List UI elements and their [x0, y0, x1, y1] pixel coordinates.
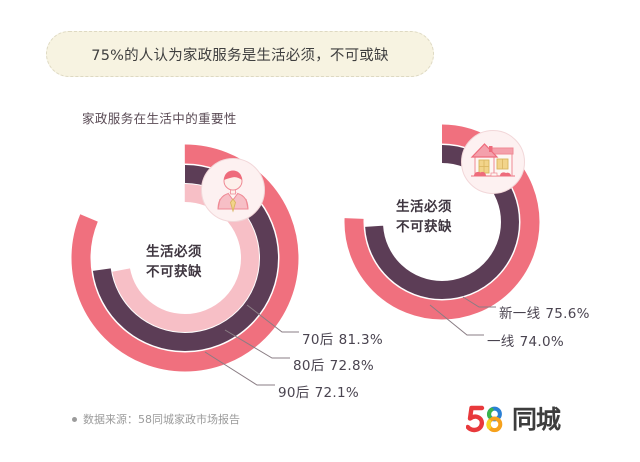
- right-donut-center-caption: 生活必须 不可获缺: [396, 198, 452, 237]
- data-label-70hou: 70后81.3%: [302, 328, 383, 348]
- data-label-yixian-name: 一线: [487, 334, 515, 350]
- data-label-xinyixian: 新一线75.6%: [499, 302, 590, 322]
- data-label-xinyixian-name: 新一线: [499, 306, 540, 322]
- data-label-70hou-value: 81.3%: [339, 332, 383, 348]
- data-label-80hou: 80后72.8%: [293, 354, 374, 374]
- source-bullet-icon: [72, 417, 77, 422]
- person-icon-badge: [201, 158, 265, 222]
- left-caption-line2: 不可获缺: [146, 263, 202, 283]
- logo-58-icon: [466, 404, 510, 434]
- left-caption-line1: 生活必须: [146, 243, 202, 263]
- logo-brand-name: 同城: [512, 407, 560, 432]
- right-caption-line1: 生活必须: [396, 198, 452, 218]
- source-note-text: 数据来源：58同城家政市场报告: [83, 411, 240, 427]
- data-label-90hou-value: 72.1%: [315, 385, 359, 401]
- brand-logo: 同城: [466, 404, 560, 434]
- left-donut-center-caption: 生活必须 不可获缺: [146, 243, 202, 282]
- house-icon: [462, 131, 524, 193]
- infographic-canvas: 75%的人认为家政服务是生活必须，不可或缺 家政服务在生活中的重要性 生活必须 …: [0, 0, 640, 462]
- data-label-yixian-value: 74.0%: [520, 334, 564, 350]
- data-label-yixian: 一线74.0%: [487, 330, 564, 350]
- data-label-90hou: 90后72.1%: [278, 381, 359, 401]
- data-label-80hou-value: 72.8%: [330, 358, 374, 374]
- person-icon: [202, 159, 264, 221]
- data-label-80hou-name: 80后: [293, 358, 325, 374]
- source-note: 数据来源：58同城家政市场报告: [72, 411, 240, 427]
- house-icon-badge: [461, 130, 525, 194]
- data-label-90hou-name: 90后: [278, 385, 310, 401]
- data-label-70hou-name: 70后: [302, 332, 334, 348]
- data-label-xinyixian-value: 75.6%: [545, 306, 589, 322]
- right-caption-line2: 不可获缺: [396, 218, 452, 238]
